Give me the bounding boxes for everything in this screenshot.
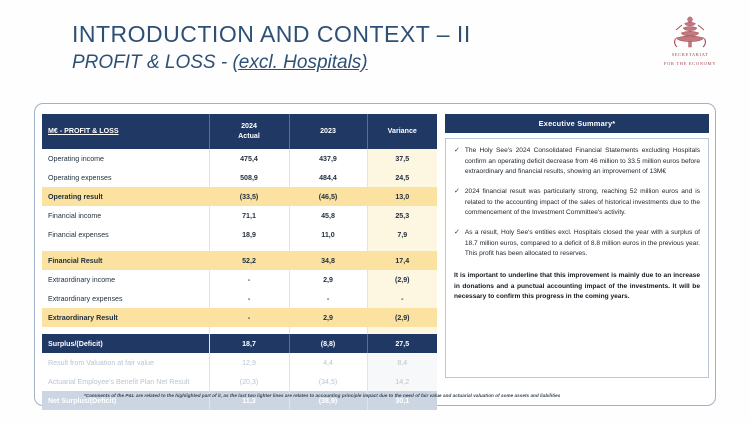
cell-variance: 13,0 (367, 187, 437, 206)
bullet-text: 2024 financial result was particularly s… (465, 187, 700, 219)
check-icon: ✓ (454, 187, 460, 219)
cell-prior: (8,8) (289, 334, 367, 353)
cell-label: Result from Valuation at fair value (42, 353, 209, 372)
cell-label: Operating income (42, 149, 209, 168)
subtitle-underlined: (excl. Hospitals) (232, 52, 367, 73)
cell-prior (289, 244, 367, 251)
cell-prior: 484,4 (289, 168, 367, 187)
cell-actual: 12,9 (209, 353, 289, 372)
cell-actual (209, 244, 289, 251)
th-2024-line1: 2024 (241, 122, 257, 130)
cell-prior: (46,5) (289, 187, 367, 206)
table-row (42, 244, 437, 251)
cell-label: Surplus/(Deficit) (42, 334, 209, 353)
cell-label: Extraordinary Result (42, 308, 209, 327)
table-body: Operating income475,4437,937,5Operating … (42, 149, 437, 410)
cell-variance: 25,3 (367, 206, 437, 225)
page-header: INTRODUCTION AND CONTEXT – II PROFIT & L… (72, 22, 471, 74)
cell-actual: (20,3) (209, 372, 289, 391)
cell-variance: 7,9 (367, 225, 437, 244)
cell-label (42, 327, 209, 334)
cell-variance (367, 327, 437, 334)
cell-label: Operating result (42, 187, 209, 206)
th-2024-actual: 2024 Actual (209, 114, 289, 149)
executive-summary-bullet: ✓As a result, Holy See's entities excl. … (454, 228, 700, 260)
cell-actual: 52,2 (209, 251, 289, 270)
check-icon: ✓ (454, 146, 460, 178)
table-row: Extraordinary Result-2,9(2,9) (42, 308, 437, 327)
check-icon: ✓ (454, 228, 460, 260)
cell-prior: 437,9 (289, 149, 367, 168)
cell-actual: 18,7 (209, 334, 289, 353)
cell-variance: (2,9) (367, 270, 437, 289)
cell-variance: 14,2 (367, 372, 437, 391)
cell-prior: 34,8 (289, 251, 367, 270)
cell-actual: - (209, 270, 289, 289)
cell-label: Financial Result (42, 251, 209, 270)
table-header-row: M€ - PROFIT & LOSS 2024 Actual 2023 Vari… (42, 114, 437, 149)
cell-label: Financial income (42, 206, 209, 225)
table-row: Extraordinary expenses--- (42, 289, 437, 308)
papal-crest-icon (670, 16, 710, 50)
executive-summary-note: It is important to underline that this i… (454, 271, 700, 303)
table-row: Operating result(33,5)(46,5)13,0 (42, 187, 437, 206)
th-2024-line2: Actual (238, 132, 260, 140)
cell-prior (289, 327, 367, 334)
table-row: Actuarial Employee's Benefit Plan Net Re… (42, 372, 437, 391)
cell-label: Financial expenses (42, 225, 209, 244)
content-card: M€ - PROFIT & LOSS 2024 Actual 2023 Vari… (34, 103, 716, 406)
cell-prior: 45,8 (289, 206, 367, 225)
cell-prior: 2,9 (289, 270, 367, 289)
table-row: Result from Valuation at fair value12,94… (42, 353, 437, 372)
cell-prior: 4,4 (289, 353, 367, 372)
th-2023: 2023 (289, 114, 367, 149)
cell-prior: (34,5) (289, 372, 367, 391)
table-row: Financial expenses18,911,07,9 (42, 225, 437, 244)
executive-summary-bullets: ✓The Holy See's 2024 Consolidated Financ… (454, 146, 700, 260)
executive-summary-heading: Executive Summary* (445, 114, 709, 133)
cell-variance: 24,5 (367, 168, 437, 187)
cell-actual: - (209, 308, 289, 327)
cell-variance: (2,9) (367, 308, 437, 327)
profit-loss-table: M€ - PROFIT & LOSS 2024 Actual 2023 Vari… (42, 114, 437, 410)
organization-logo: SECRETARIAT FOR THE ECONOMY (644, 16, 736, 68)
cell-prior: 11,0 (289, 225, 367, 244)
cell-actual: - (209, 289, 289, 308)
footnote: *Comments of the P&L are related to the … (84, 393, 684, 399)
cell-variance: - (367, 289, 437, 308)
executive-summary-body: ✓The Holy See's 2024 Consolidated Financ… (445, 138, 709, 378)
cell-label: Extraordinary expenses (42, 289, 209, 308)
executive-summary-bullet: ✓The Holy See's 2024 Consolidated Financ… (454, 146, 700, 178)
cell-variance: 27,5 (367, 334, 437, 353)
table-row: Financial Result52,234,817,4 (42, 251, 437, 270)
cell-variance: 37,5 (367, 149, 437, 168)
cell-variance: 17,4 (367, 251, 437, 270)
executive-summary-panel: Executive Summary* ✓The Holy See's 2024 … (445, 114, 709, 378)
cell-variance (367, 244, 437, 251)
page-title: INTRODUCTION AND CONTEXT – II (72, 22, 471, 47)
profit-loss-table-wrapper: M€ - PROFIT & LOSS 2024 Actual 2023 Vari… (42, 114, 437, 410)
table-row (42, 327, 437, 334)
executive-summary-bullet: ✓2024 financial result was particularly … (454, 187, 700, 219)
cell-prior: 2,9 (289, 308, 367, 327)
page-subtitle: PROFIT & LOSS - (excl. Hospitals) (72, 53, 471, 74)
th-variance: Variance (367, 114, 437, 149)
cell-actual: 18,9 (209, 225, 289, 244)
subtitle-plain: PROFIT & LOSS - (72, 52, 232, 73)
cell-actual: 508,9 (209, 168, 289, 187)
table-row: Surplus/(Deficit)18,7(8,8)27,5 (42, 334, 437, 353)
cell-label: Operating expenses (42, 168, 209, 187)
cell-prior: - (289, 289, 367, 308)
logo-line-1: SECRETARIAT (644, 52, 736, 59)
logo-line-2: FOR THE ECONOMY (644, 61, 736, 68)
cell-label: Extraordinary income (42, 270, 209, 289)
slide-root: INTRODUCTION AND CONTEXT – II PROFIT & L… (0, 0, 750, 422)
table-row: Financial income71,145,825,3 (42, 206, 437, 225)
table-row: Extraordinary income-2,9(2,9) (42, 270, 437, 289)
cell-variance: 8,4 (367, 353, 437, 372)
table-row: Operating income475,4437,937,5 (42, 149, 437, 168)
cell-actual (209, 327, 289, 334)
cell-label (42, 244, 209, 251)
bullet-text: As a result, Holy See's entities excl. H… (465, 228, 700, 260)
bullet-text: The Holy See's 2024 Consolidated Financi… (465, 146, 700, 178)
cell-actual: (33,5) (209, 187, 289, 206)
cell-actual: 475,4 (209, 149, 289, 168)
cell-actual: 71,1 (209, 206, 289, 225)
th-label: M€ - PROFIT & LOSS (42, 114, 209, 149)
cell-label: Actuarial Employee's Benefit Plan Net Re… (42, 372, 209, 391)
table-row: Operating expenses508,9484,424,5 (42, 168, 437, 187)
